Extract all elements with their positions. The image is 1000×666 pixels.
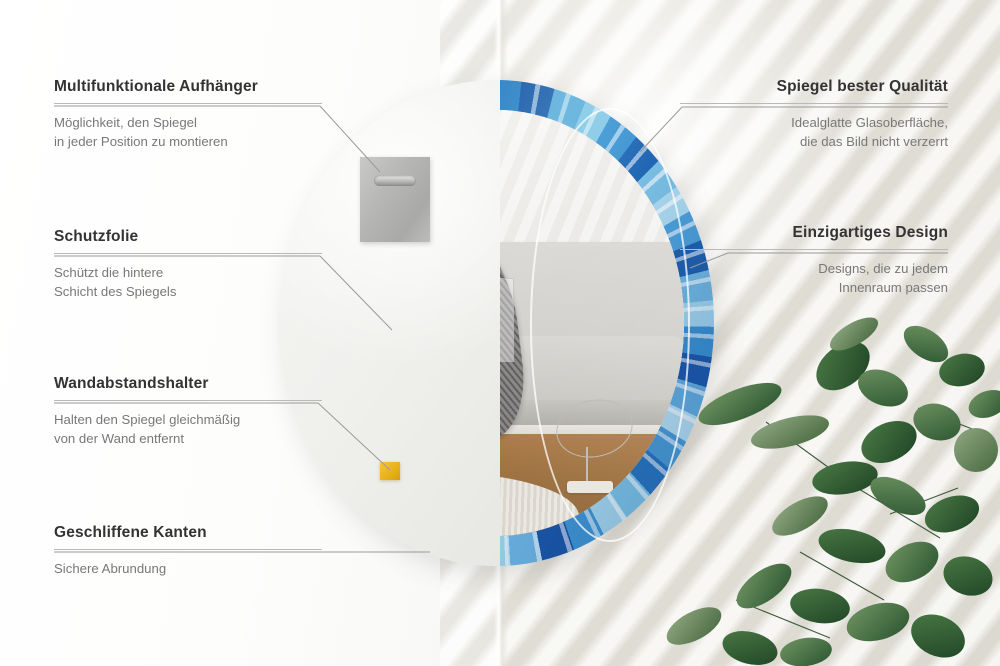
callout-body-line2: in jeder Position zu montieren (54, 133, 322, 152)
infographic-canvas: Multifunktionale Aufhänger Möglichkeit, … (0, 0, 1000, 666)
callout-body-line1: Sichere Abrundung (54, 560, 322, 579)
hanger-plate (360, 157, 430, 242)
callout-spiegel-bester-qualitaet: Spiegel bester Qualität Idealglatte Glas… (680, 78, 948, 151)
callout-rule (54, 400, 322, 401)
callout-wandabstandshalter: Wandabstandshalter Halten den Spiegel gl… (54, 375, 322, 448)
callout-schutzfolie: Schutzfolie Schützt die hintere Schicht … (54, 228, 322, 301)
callout-rule (54, 549, 322, 550)
callout-body-line2: Schicht des Spiegels (54, 283, 322, 302)
mirror-glass (500, 110, 684, 536)
glass-reflection-overlay (500, 110, 684, 536)
callout-heading: Geschliffene Kanten (54, 524, 322, 542)
callout-rule (54, 253, 322, 254)
callout-body-line1: Halten den Spiegel gleichmäßig (54, 411, 322, 430)
callout-heading: Spiegel bester Qualität (680, 78, 948, 96)
callout-geschliffene-kanten: Geschliffene Kanten Sichere Abrundung (54, 524, 322, 579)
callout-rule (680, 249, 948, 250)
callout-heading: Multifunktionale Aufhänger (54, 78, 322, 96)
callout-heading: Schutzfolie (54, 228, 322, 246)
callout-body-line2: die das Bild nicht verzerrt (680, 133, 948, 152)
callout-multifunktionale-aufhaenger: Multifunktionale Aufhänger Möglichkeit, … (54, 78, 322, 151)
callout-rule (680, 103, 948, 104)
callout-heading: Wandabstandshalter (54, 375, 322, 393)
callout-body-line1: Möglichkeit, den Spiegel (54, 114, 322, 133)
product-mirror (278, 80, 714, 566)
callout-body-line1: Schützt die hintere (54, 264, 322, 283)
hanger-keyhole-slot (374, 175, 416, 186)
mirror-front-half (500, 80, 714, 566)
callout-rule (54, 103, 322, 104)
wall-spacer (380, 462, 400, 480)
callout-einzigartiges-design: Einzigartiges Design Designs, die zu jed… (680, 224, 948, 297)
callout-body-line1: Idealglatte Glasoberfläche, (680, 114, 948, 133)
callout-body-line2: von der Wand entfernt (54, 430, 322, 449)
callout-body-line2: Innenraum passen (680, 279, 948, 298)
callout-heading: Einzigartiges Design (680, 224, 948, 242)
callout-body-line1: Designs, die zu jedem (680, 260, 948, 279)
